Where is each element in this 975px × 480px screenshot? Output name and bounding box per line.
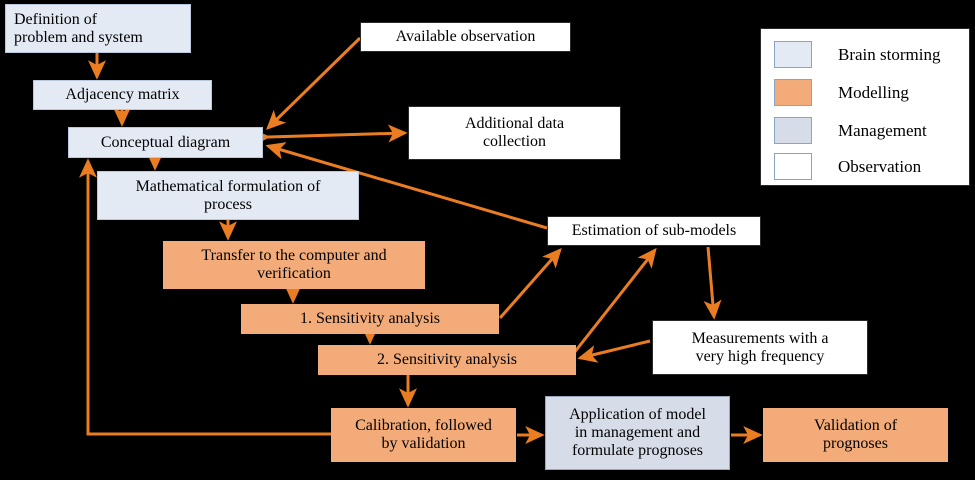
node-label: Calibration, followed by validation (355, 417, 492, 453)
edge-available-conceptual (268, 38, 360, 128)
legend-item-observation: Observation (774, 153, 921, 180)
node-definition[interactable]: Definition of problem and system (5, 4, 191, 53)
node-mathematical[interactable]: Mathematical formulation of process (97, 171, 359, 220)
node-estimation[interactable]: Estimation of sub-models (547, 216, 761, 246)
flowchart-canvas: Definition of problem and system Adjacen… (0, 0, 975, 480)
legend-label: Brain storming (838, 45, 940, 65)
node-label: Conceptual diagram (101, 134, 230, 152)
node-label: Available observation (396, 28, 536, 46)
legend-item-brain-storming: Brain storming (774, 41, 940, 68)
node-conceptual[interactable]: Conceptual diagram (68, 127, 263, 158)
edge-sens1-estimation (500, 250, 560, 318)
node-adjacency[interactable]: Adjacency matrix (33, 80, 212, 110)
node-label: Definition of problem and system (14, 11, 143, 47)
node-label: 1. Sensitivity analysis (300, 310, 440, 328)
node-label: 2. Sensitivity analysis (377, 351, 517, 369)
edge-conceptual-additional (268, 133, 405, 137)
node-label: Adjacency matrix (65, 86, 179, 104)
legend-swatch-brain-storming (774, 41, 812, 68)
node-label: Application of model in management and f… (569, 406, 706, 460)
node-label: Additional data collection (465, 115, 564, 151)
legend-item-modelling: Modelling (774, 79, 909, 106)
node-label: Estimation of sub-models (572, 222, 736, 240)
legend-panel: Brain storming Modelling Management Obse… (760, 28, 970, 186)
legend-swatch-observation (774, 153, 812, 180)
node-label: Transfer to the computer and verificatio… (201, 247, 386, 283)
node-sensitivity-1[interactable]: 1. Sensitivity analysis (241, 304, 499, 334)
node-sensitivity-2[interactable]: 2. Sensitivity analysis (318, 345, 576, 375)
legend-label: Modelling (838, 83, 909, 103)
node-validation[interactable]: Validation of prognoses (763, 408, 948, 462)
node-calibration[interactable]: Calibration, followed by validation (331, 408, 516, 462)
legend-label: Observation (838, 157, 921, 177)
edge-estimation-measurements (708, 247, 714, 317)
node-available-observation[interactable]: Available observation (360, 22, 571, 52)
node-label: Validation of prognoses (814, 417, 897, 453)
node-measurements[interactable]: Measurements with a very high frequency (652, 320, 868, 375)
node-additional-data[interactable]: Additional data collection (408, 106, 621, 160)
edge-measurements-sens2 (580, 341, 650, 358)
node-label: Mathematical formulation of process (136, 178, 321, 214)
node-label: Measurements with a very high frequency (692, 330, 829, 366)
legend-swatch-modelling (774, 79, 812, 106)
legend-swatch-management (774, 117, 812, 144)
legend-label: Management (838, 121, 927, 141)
node-application[interactable]: Application of model in management and f… (545, 396, 730, 470)
node-transfer[interactable]: Transfer to the computer and verificatio… (163, 241, 425, 289)
legend-item-management: Management (774, 117, 927, 144)
